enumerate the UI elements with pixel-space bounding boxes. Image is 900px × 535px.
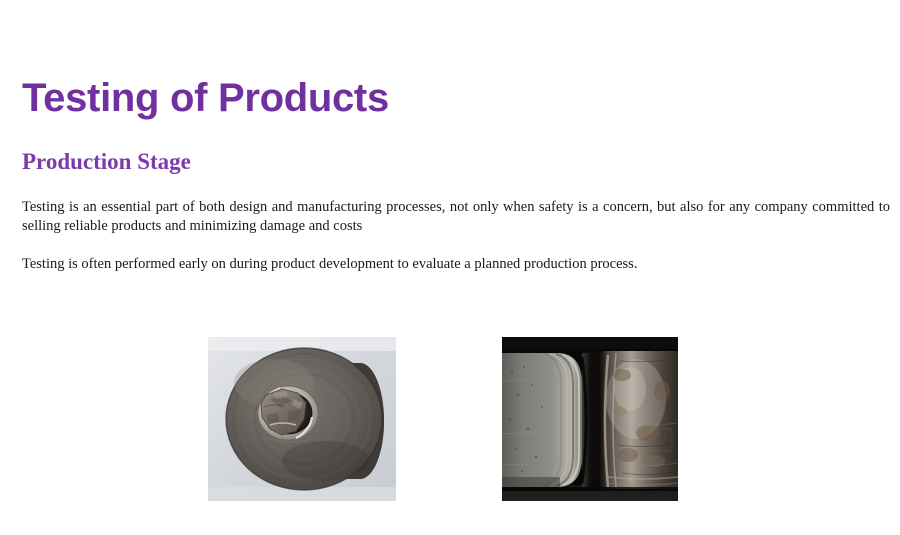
separated-tube-sections-photo — [502, 337, 678, 501]
body-paragraph-1: Testing is an essential part of both des… — [22, 198, 890, 236]
body-text-block: Testing is an essential part of both des… — [22, 198, 890, 274]
fractured-flange-image — [208, 337, 396, 501]
figure-row — [0, 337, 900, 501]
fractured-flange-photo — [208, 337, 396, 501]
slide-canvas: Testing of Products Production Stage Tes… — [0, 0, 900, 535]
slide-subtitle: Production Stage — [22, 148, 191, 175]
body-paragraph-2: Testing is often performed early on duri… — [22, 255, 890, 274]
page-title: Testing of Products — [22, 75, 389, 121]
separated-tube-sections-image — [502, 337, 678, 501]
